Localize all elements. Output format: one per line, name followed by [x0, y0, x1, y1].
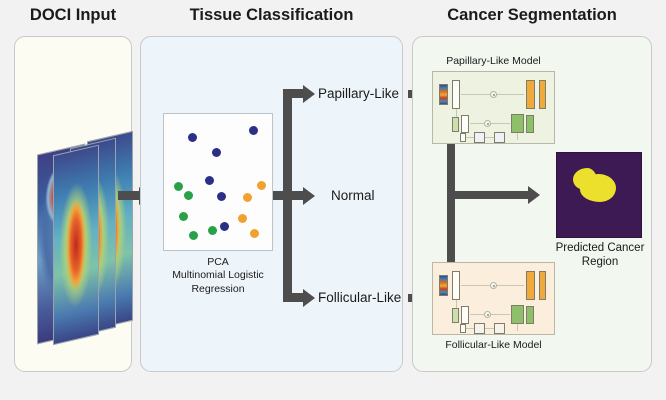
branch-label-normal: Normal [331, 188, 375, 203]
unet-decoder-block-l1b [539, 271, 546, 300]
unet-bottleneck-block-b [474, 323, 485, 334]
scatter-point-normal [179, 212, 188, 221]
unet-bottleneck-link-b [485, 137, 494, 138]
arrow-to-prediction-shaft [447, 191, 529, 199]
unet-upsample-l3-l2 [517, 324, 518, 331]
follicular-model-caption: Follicular-Like Model [432, 339, 555, 351]
papillary-like-model-diagram [432, 71, 555, 144]
unet-decoder-block-l1a [526, 271, 535, 300]
unet-merge-node-l2 [484, 120, 491, 127]
unet-decoder-block-l2b [526, 306, 534, 324]
unet-bottleneck-block-c [494, 323, 505, 334]
follicular-like-model-diagram [432, 262, 555, 335]
branch-label-follicular: Follicular-Like [318, 290, 401, 305]
arrow-branch-follicular-head [303, 289, 315, 307]
unet-decoder-block-l2a [511, 305, 524, 324]
pca-caption-line2: Multinomial Logistic [150, 269, 286, 282]
scatter-point-papillary [249, 126, 258, 135]
scatter-point-papillary [188, 133, 197, 142]
unet-bottleneck-link-a [466, 137, 474, 138]
unet-bottleneck-block-b [474, 132, 485, 143]
unet-decoder-block-l1b [539, 80, 546, 109]
unet-merge-node-l1 [490, 282, 497, 289]
arrow-branch-normal-shaft [283, 191, 305, 200]
unet-encoder-block-l2b [461, 115, 469, 133]
doci-slice-stack [53, 150, 135, 350]
unet-input-volume [439, 275, 448, 296]
unet-downsample-l1-l2 [456, 109, 457, 117]
unet-input-volume [439, 84, 448, 105]
arrow-models-merge-trunk [447, 144, 455, 262]
unet-encoder-block-l2b [461, 306, 469, 324]
predicted-cancer-region-image [556, 152, 642, 238]
unet-decoder-block-l2b [526, 115, 534, 133]
unet-decoder-block-l1a [526, 80, 535, 109]
predicted-cancer-blob-secondary [573, 168, 597, 190]
scatter-point-papillary [220, 222, 229, 231]
scatter-point-normal [208, 226, 217, 235]
scatter-point-normal [184, 191, 193, 200]
pca-scatter-plot [163, 113, 273, 251]
scatter-point-follicular [243, 193, 252, 202]
scatter-point-normal [174, 182, 183, 191]
pca-caption-line3: Regression [150, 283, 286, 296]
unet-upsample-l3-l2 [517, 133, 518, 140]
unet-encoder-block-l2a [452, 308, 459, 323]
scatter-point-follicular [257, 181, 266, 190]
scatter-point-papillary [212, 148, 221, 157]
unet-merge-node-l2 [484, 311, 491, 318]
pca-caption: PCA Multinomial Logistic Regression [150, 256, 286, 296]
unet-papillary [433, 72, 554, 143]
unet-encoder-block-l1 [452, 271, 460, 300]
arrow-branch-normal-head [303, 187, 315, 205]
unet-merge-node-l1 [490, 91, 497, 98]
panel-title-cancer-segmentation: Cancer Segmentation [412, 6, 652, 25]
unet-encoder-block-l1 [452, 80, 460, 109]
scatter-point-normal [189, 231, 198, 240]
scatter-point-follicular [250, 229, 259, 238]
arrow-branch-papillary-head [303, 85, 315, 103]
figure-canvas: DOCI Input Tissue Classification Cancer … [0, 0, 666, 400]
arrow-to-prediction-head [528, 186, 540, 204]
papillary-model-caption: Papillary-Like Model [432, 55, 555, 67]
arrow-branch-follicular-shaft [283, 293, 305, 302]
arrow-input-to-classifier-shaft [118, 191, 140, 200]
unet-downsample-l1-l2 [456, 300, 457, 308]
panel-title-tissue-classification: Tissue Classification [140, 6, 403, 25]
panel-doci-input: ••• [14, 36, 132, 372]
unet-bottleneck-link-b [485, 328, 494, 329]
doci-slice-front [53, 145, 99, 346]
branch-label-papillary: Papillary-Like [318, 86, 399, 101]
unet-follicular [433, 263, 554, 334]
unet-bottleneck-block-c [494, 132, 505, 143]
arrow-branch-papillary-shaft [283, 89, 305, 98]
scatter-point-papillary [217, 192, 226, 201]
prediction-caption-line2: Region [548, 255, 652, 269]
panel-title-doci-input: DOCI Input [14, 6, 132, 25]
scatter-point-papillary [205, 176, 214, 185]
prediction-caption-line1: Predicted Cancer [548, 241, 652, 255]
unet-encoder-block-l2a [452, 117, 459, 132]
predicted-cancer-region-caption: Predicted Cancer Region [548, 241, 652, 270]
unet-decoder-block-l2a [511, 114, 524, 133]
scatter-point-follicular [238, 214, 247, 223]
unet-bottleneck-link-a [466, 328, 474, 329]
pca-caption-line1: PCA [150, 256, 286, 269]
